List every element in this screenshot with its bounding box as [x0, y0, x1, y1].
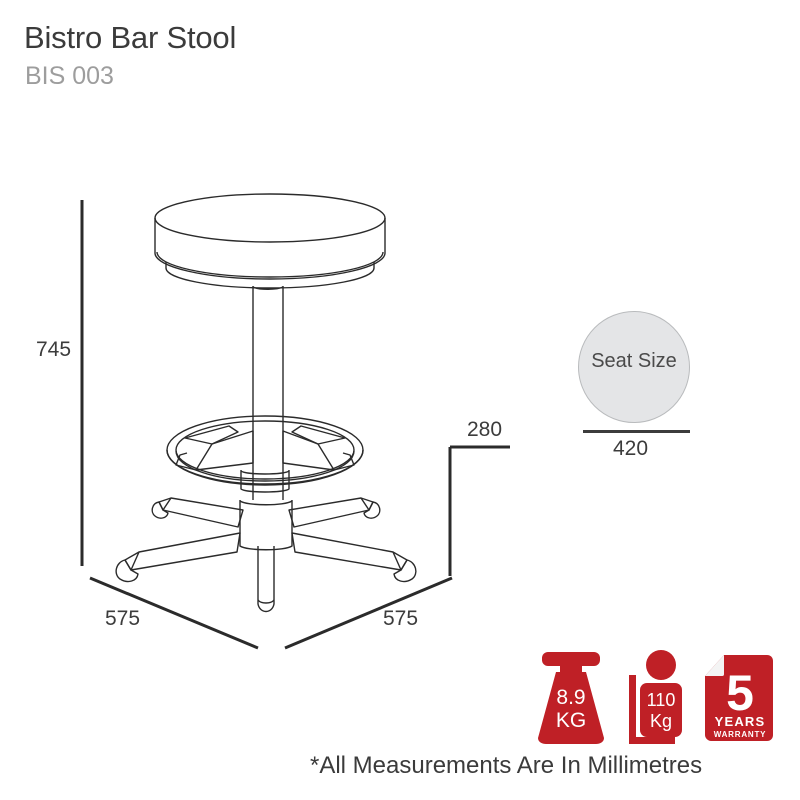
seat-diameter-dimension-line: [583, 430, 690, 433]
warranty-years-label: YEARS: [715, 714, 766, 729]
measurement-units-note: *All Measurements Are In Millimetres: [310, 752, 702, 780]
base-left-dimension-label: 575: [105, 607, 140, 631]
foot-ring: [167, 416, 363, 492]
warranty-years-number: 5: [726, 665, 754, 721]
height-dimension-label: 745: [36, 338, 71, 362]
seat-cushion: [155, 194, 385, 288]
product-weight-value: 8.9: [556, 686, 585, 709]
load-capacity-icon: 110 Kg: [629, 650, 682, 744]
load-capacity-unit: Kg: [650, 711, 672, 731]
footring-dimension-label: 280: [467, 418, 502, 442]
product-weight-icon: 8.9 KG: [538, 652, 604, 744]
seat-diameter-label: 420: [613, 437, 648, 461]
base-right-dimension-line: [285, 578, 452, 648]
gas-lift-column: [253, 286, 283, 500]
dimension-lines: [82, 200, 510, 648]
warranty-word-label: WARRANTY: [714, 730, 767, 739]
five-star-base: [116, 498, 416, 612]
base-right-dimension-label: 575: [383, 607, 418, 631]
seat-size-label: Seat Size: [578, 350, 690, 373]
warranty-badge-icon: 5 YEARS WARRANTY: [700, 650, 776, 746]
product-weight-unit: KG: [556, 709, 586, 732]
spec-icon-row: 8.9 KG 110 Kg 5 YEARS WARRANTY: [528, 648, 790, 748]
spec-sheet: Bistro Bar Stool BIS 003: [0, 0, 800, 800]
load-capacity-value: 110: [647, 690, 676, 710]
